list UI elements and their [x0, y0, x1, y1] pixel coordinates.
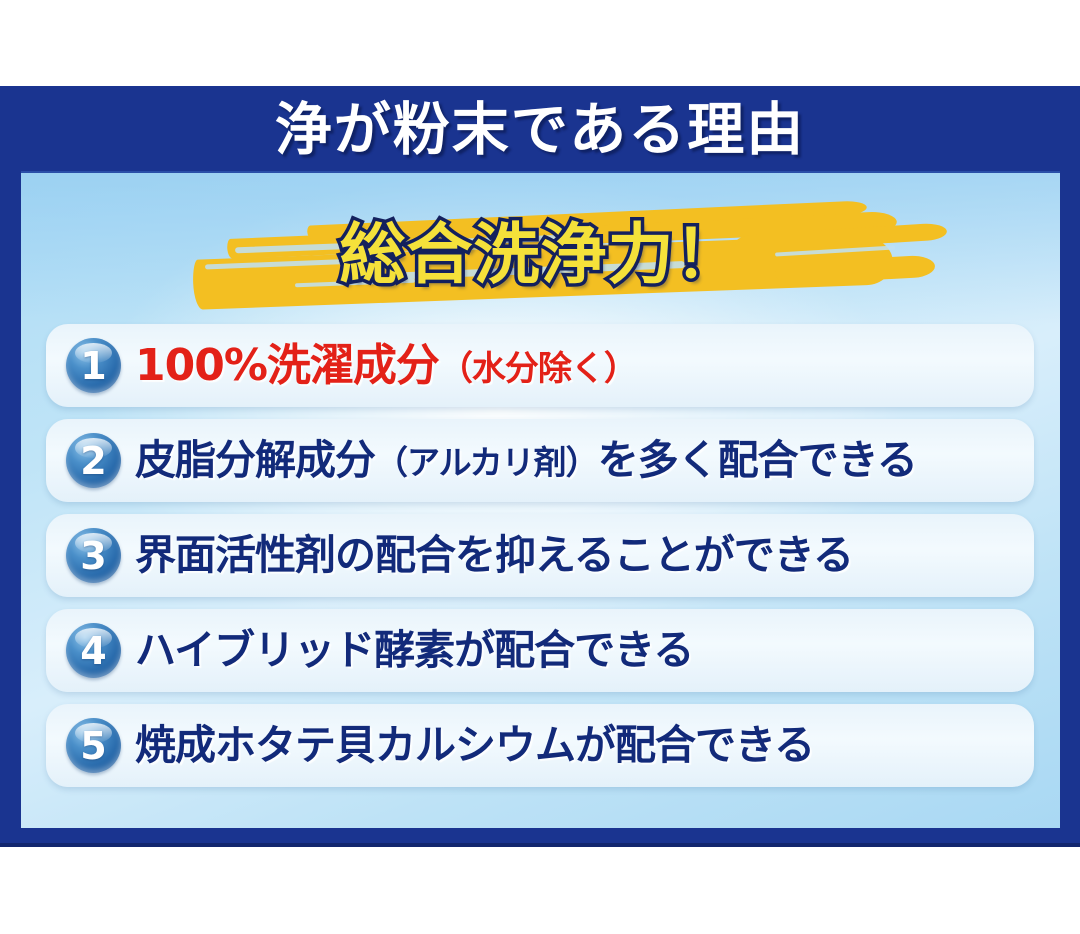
list-item-number-badge: 5	[66, 718, 121, 773]
brush-banner: 総合洗浄力！	[21, 195, 1060, 315]
brush-headline: 総合洗浄力！	[21, 195, 1060, 315]
list-item: 1 100%洗濯成分（水分除く）	[46, 324, 1034, 407]
list-item-number-badge: 2	[66, 433, 121, 488]
list-item-number-badge: 4	[66, 623, 121, 678]
list-item-number-badge: 3	[66, 528, 121, 583]
list-item-main-text: ハイブリッド酵素が配合できる	[135, 626, 693, 674]
list-item-sub-text: （水分除く）	[439, 349, 637, 389]
list-item-sub-text: （アルカリ剤）	[375, 443, 598, 482]
reasons-list: 1 100%洗濯成分（水分除く） 2 皮脂分解成分（アルカリ剤）を多く配合できる…	[46, 324, 1059, 787]
list-item-text: ハイブリッド酵素が配合できる	[135, 630, 693, 671]
list-item-text: 100%洗濯成分（水分除く）	[135, 344, 637, 388]
list-item: 5 焼成ホタテ貝カルシウムが配合できる	[46, 704, 1034, 787]
brush-headline-text: 総合洗浄力！	[340, 222, 742, 288]
list-item-tail-text: を多く配合できる	[598, 436, 917, 484]
page-title-text: 浄が粉末である理由	[275, 102, 805, 159]
list-item-number: 1	[80, 347, 106, 385]
list-item-main-text: 100%洗濯成分	[135, 340, 439, 391]
list-item: 4 ハイブリッド酵素が配合できる	[46, 609, 1034, 692]
list-item-number: 4	[80, 632, 106, 670]
list-item-number: 5	[80, 727, 106, 765]
list-item: 3 界面活性剤の配合を抑えることができる	[46, 514, 1034, 597]
list-item-main-text: 皮脂分解成分	[135, 436, 375, 484]
list-item-main-text: 界面活性剤の配合を抑えることができる	[135, 531, 853, 579]
list-item-main-text: 焼成ホタテ貝カルシウムが配合できる	[135, 721, 814, 769]
list-item-text: 皮脂分解成分（アルカリ剤）を多く配合できる	[135, 440, 917, 481]
list-item-number-badge: 1	[66, 338, 121, 393]
list-item-number: 3	[80, 537, 106, 575]
page-title: 浄が粉末である理由	[0, 90, 1080, 170]
list-item-text: 界面活性剤の配合を抑えることができる	[135, 535, 853, 576]
content-panel: 総合洗浄力！ 1 100%洗濯成分（水分除く） 2 皮脂分解成分（アルカリ剤）を…	[21, 171, 1060, 828]
list-item-text: 焼成ホタテ貝カルシウムが配合できる	[135, 725, 814, 766]
list-item: 2 皮脂分解成分（アルカリ剤）を多く配合できる	[46, 419, 1034, 502]
list-item-number: 2	[80, 442, 106, 480]
poster-root: 浄が粉末である理由 総合洗浄力！ 1	[0, 0, 1080, 934]
